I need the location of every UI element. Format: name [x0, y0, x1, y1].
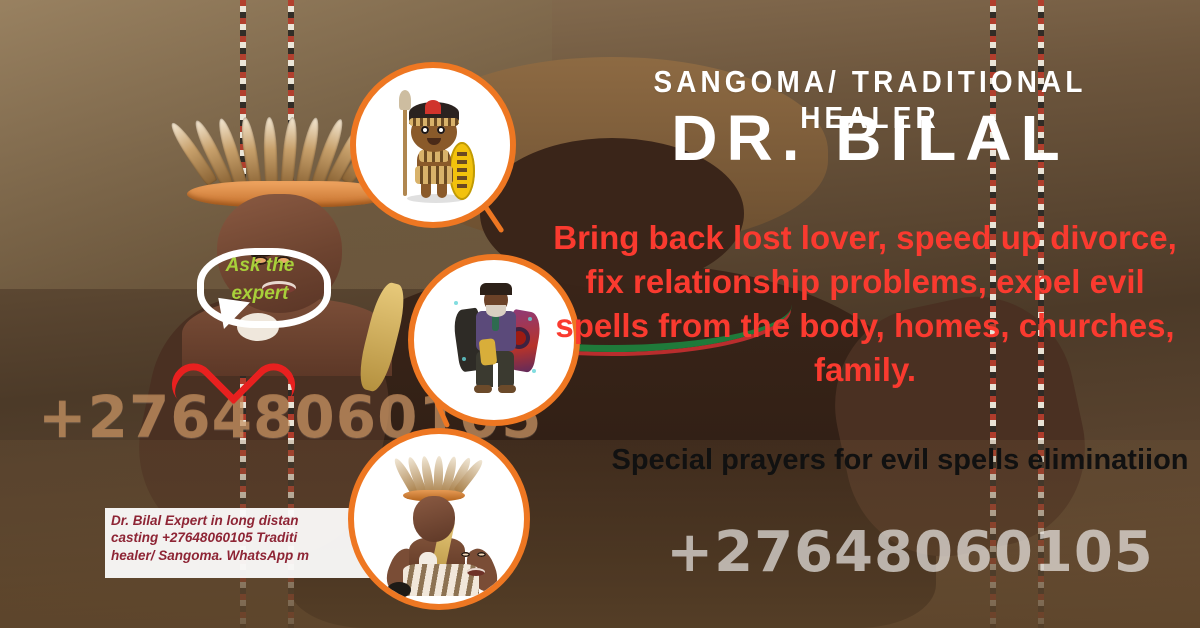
robed-healer-illustration	[448, 283, 540, 403]
services-text: Bring back lost lover, speed up divorce,…	[540, 216, 1190, 392]
caption-line-1: Dr. Bilal Expert in long distan	[111, 512, 369, 529]
poster-canvas: Alternative healing +27648060105	[0, 0, 1200, 628]
photo-caption: Dr. Bilal Expert in long distan casting …	[105, 508, 375, 578]
caption-line-2: casting +27648060105 Traditi	[111, 529, 369, 546]
cartoon-warrior-illustration	[385, 90, 481, 206]
secondary-offer-text: Special prayers for evil spells eliminat…	[610, 440, 1190, 480]
healer-name: DR. BILAL	[560, 104, 1180, 173]
caption-line-3: healer/ Sangoma. WhatsApp m	[111, 547, 369, 564]
circle-cartoon-zulu-warrior	[350, 62, 516, 228]
circle-crouching-warrior	[348, 428, 530, 610]
right-phone-watermark: +27648060105	[620, 520, 1200, 585]
heart-icon	[195, 336, 267, 400]
speech-bubble-text: Ask the expert	[205, 252, 315, 307]
crouching-warrior-illustration	[373, 456, 505, 596]
